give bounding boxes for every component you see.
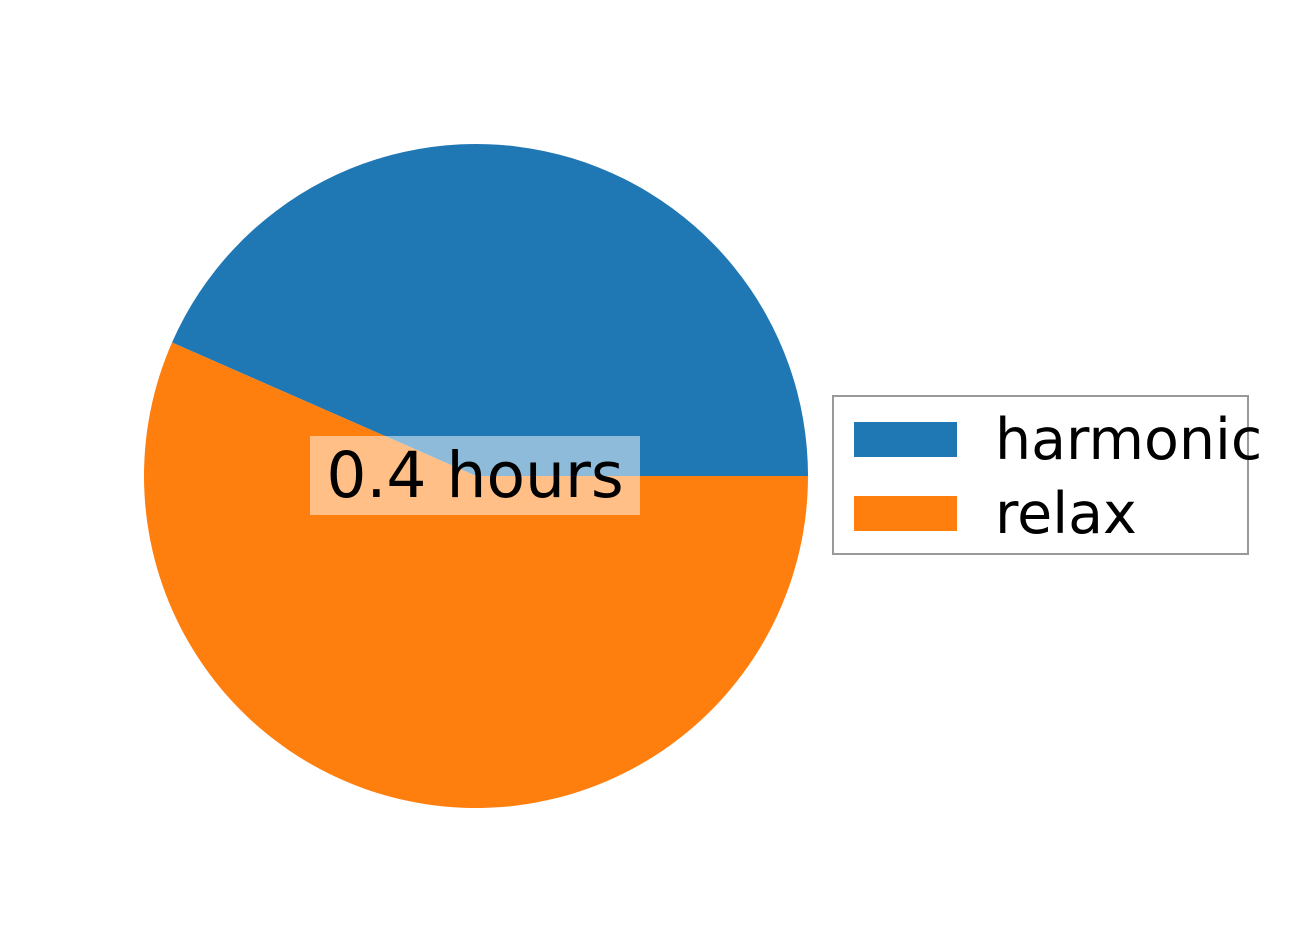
legend-label-relax: relax (995, 484, 1137, 544)
legend-swatch-relax (854, 496, 957, 531)
figure-canvas: 0.4 hours harmonic relax (0, 0, 1307, 951)
legend-swatch-harmonic (854, 422, 957, 457)
pie-center-label: 0.4 hours (310, 436, 640, 515)
legend-entry-relax[interactable]: relax (834, 484, 1247, 544)
legend-entry-harmonic[interactable]: harmonic (834, 410, 1247, 470)
legend-label-harmonic: harmonic (995, 410, 1262, 470)
legend: harmonic relax (832, 395, 1249, 555)
